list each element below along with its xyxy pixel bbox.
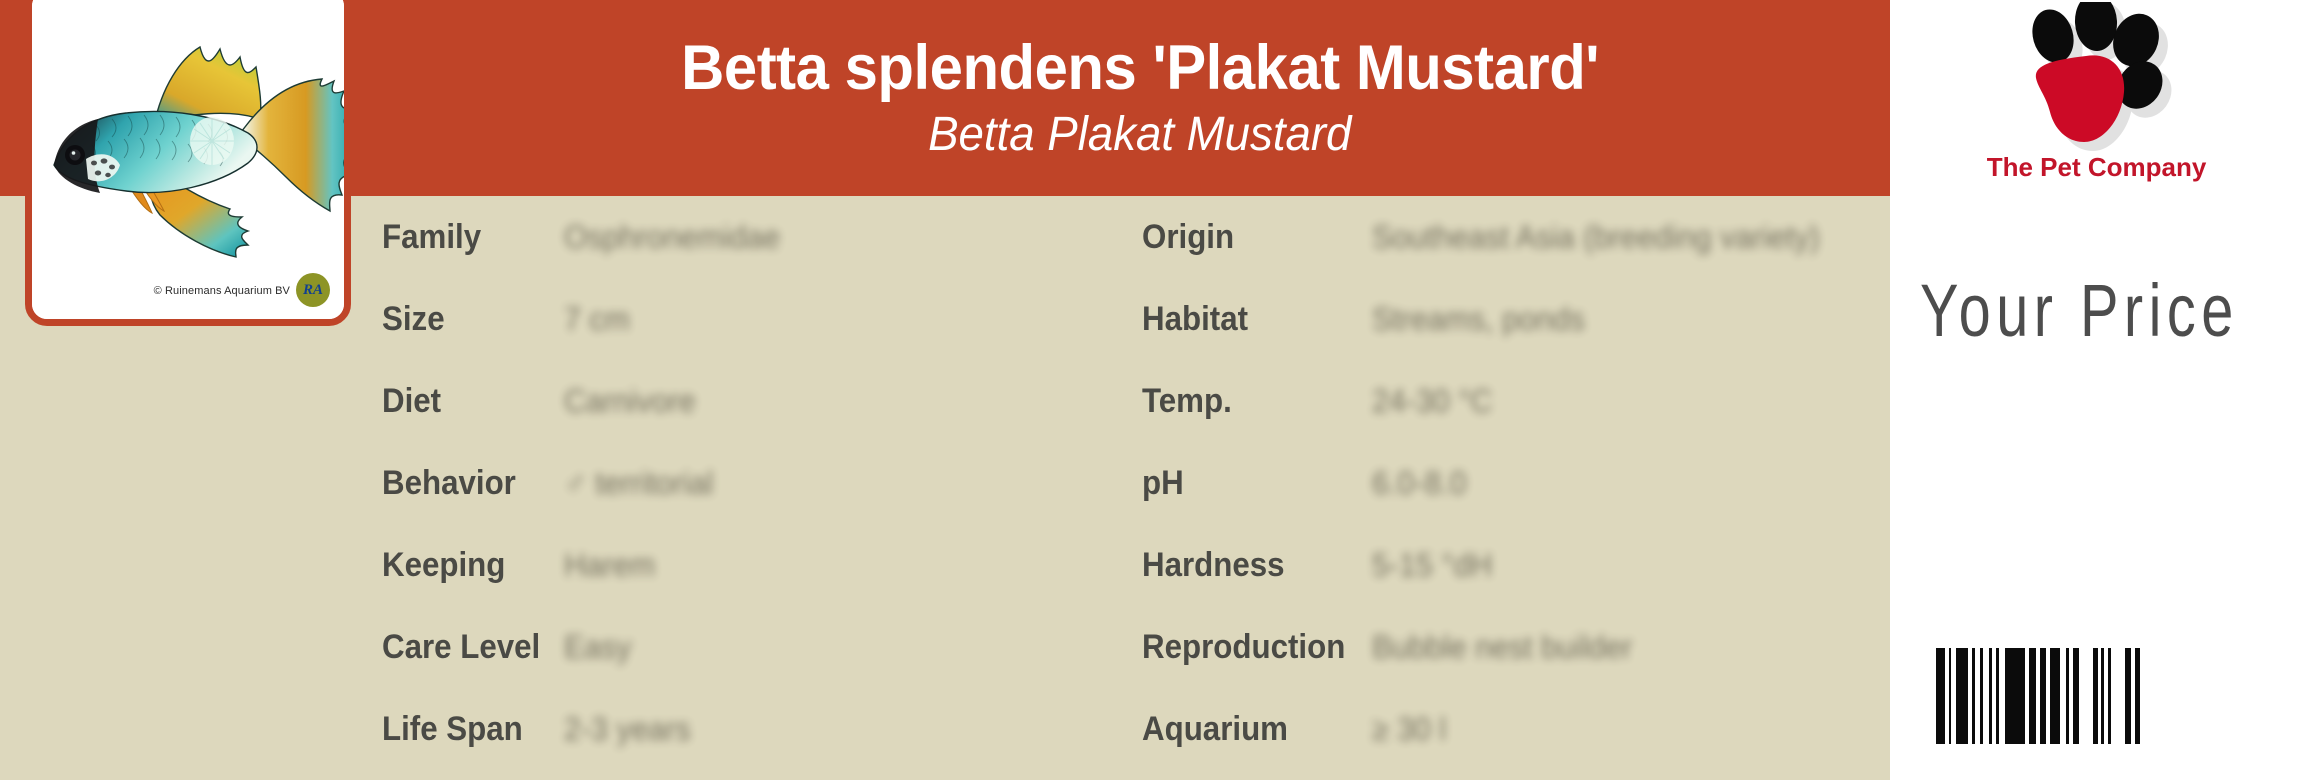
brand-logo-block: The Pet Company <box>1890 2 2303 220</box>
spec-value-hardness: 5-15 °dH <box>1372 547 1492 584</box>
barcode-bar <box>2005 648 2025 744</box>
spec-label-origin: Origin <box>1142 218 1354 257</box>
species-photo-frame: © Ruinemans Aquarium BV RA <box>25 0 351 326</box>
spec-value-temperature: 24-30 °C <box>1372 383 1492 420</box>
spec-column-right: Origin Southeast Asia (breeding variety)… <box>1142 196 1882 780</box>
spec-value-aquarium: ≥ 30 l <box>1372 711 1446 748</box>
spec-label-temperature: Temp. <box>1142 382 1354 421</box>
spec-label-care-level: Care Level <box>382 628 549 667</box>
spec-value-life-span: 2-3 years <box>564 711 691 748</box>
spec-value-habitat: Streams, ponds <box>1372 301 1585 338</box>
spec-label-ph: pH <box>1142 464 1354 503</box>
header-text-block: Betta splendens 'Plakat Mustard' Betta P… <box>380 0 1900 196</box>
barcode-bar <box>2029 648 2036 744</box>
spec-label-diet: Diet <box>382 382 549 421</box>
spec-label-reproduction: Reproduction <box>1142 628 1354 667</box>
spec-value-size: 7 cm <box>564 301 630 338</box>
spec-row-keeping: Keeping Harem <box>382 524 1142 606</box>
product-barcode <box>1936 648 2148 744</box>
barcode-bar <box>2050 648 2060 744</box>
spec-row-care-level: Care Level Easy <box>382 606 1142 688</box>
price-label: Your Price <box>1920 268 2303 353</box>
spec-row-life-span: Life Span 2-3 years <box>382 688 1142 770</box>
spec-label-life-span: Life Span <box>382 710 549 749</box>
betta-fish-illustration <box>34 13 351 263</box>
species-photo: © Ruinemans Aquarium BV RA <box>32 0 344 319</box>
ruinemans-aquarium-logo-icon: RA <box>296 273 330 307</box>
barcode-bar <box>2111 648 2125 744</box>
brand-name: The Pet Company <box>1890 152 2303 183</box>
spec-row-family: Family Osphronemidae <box>382 196 1142 278</box>
spec-value-reproduction: Bubble nest builder <box>1372 629 1632 666</box>
spec-label-family: Family <box>382 218 549 257</box>
spec-row-size: Size 7 cm <box>382 278 1142 360</box>
spec-row-behavior: Behavior ♂ territorial <box>382 442 1142 524</box>
spec-row-reproduction: Reproduction Bubble nest builder <box>1142 606 1882 688</box>
spec-label-keeping: Keeping <box>382 546 549 585</box>
spec-label-habitat: Habitat <box>1142 300 1354 339</box>
barcode-bar <box>2140 648 2148 744</box>
product-label-tag: Betta splendens 'Plakat Mustard' Betta P… <box>0 0 2303 780</box>
spec-label-behavior: Behavior <box>382 464 549 503</box>
spec-row-habitat: Habitat Streams, ponds <box>1142 278 1882 360</box>
barcode-bar <box>2079 648 2093 744</box>
spec-row-origin: Origin Southeast Asia (breeding variety) <box>1142 196 1882 278</box>
spec-row-diet: Diet Carnivore <box>382 360 1142 442</box>
spec-label-hardness: Hardness <box>1142 546 1354 585</box>
spec-label-size: Size <box>382 300 549 339</box>
spec-value-diet: Carnivore <box>564 383 696 420</box>
spec-row-aquarium: Aquarium ≥ 30 l <box>1142 688 1882 770</box>
spec-value-behavior: ♂ territorial <box>564 465 713 502</box>
barcode-bar <box>1936 648 1945 744</box>
spec-row-hardness: Hardness 5-15 °dH <box>1142 524 1882 606</box>
page-title: Betta splendens 'Plakat Mustard' <box>681 36 1599 100</box>
spec-column-left: Family Osphronemidae Size 7 cm Diet Carn… <box>382 196 1142 780</box>
spec-value-family: Osphronemidae <box>564 219 780 256</box>
barcode-bar <box>1956 648 1968 744</box>
paw-print-icon <box>1890 2 2303 162</box>
photo-credit: © Ruinemans Aquarium BV <box>32 285 330 297</box>
page-subtitle: Betta Plakat Mustard <box>928 110 1351 160</box>
spec-value-care-level: Easy <box>564 629 632 666</box>
price-panel: The Pet Company Your Price <box>1890 0 2303 780</box>
spec-row-temperature: Temp. 24-30 °C <box>1142 360 1882 442</box>
spec-value-ph: 6.0-8.0 <box>1372 465 1467 502</box>
spec-row-ph: pH 6.0-8.0 <box>1142 442 1882 524</box>
spec-label-aquarium: Aquarium <box>1142 710 1354 749</box>
spec-value-origin: Southeast Asia (breeding variety) <box>1372 219 1820 256</box>
spec-value-keeping: Harem <box>564 547 655 584</box>
